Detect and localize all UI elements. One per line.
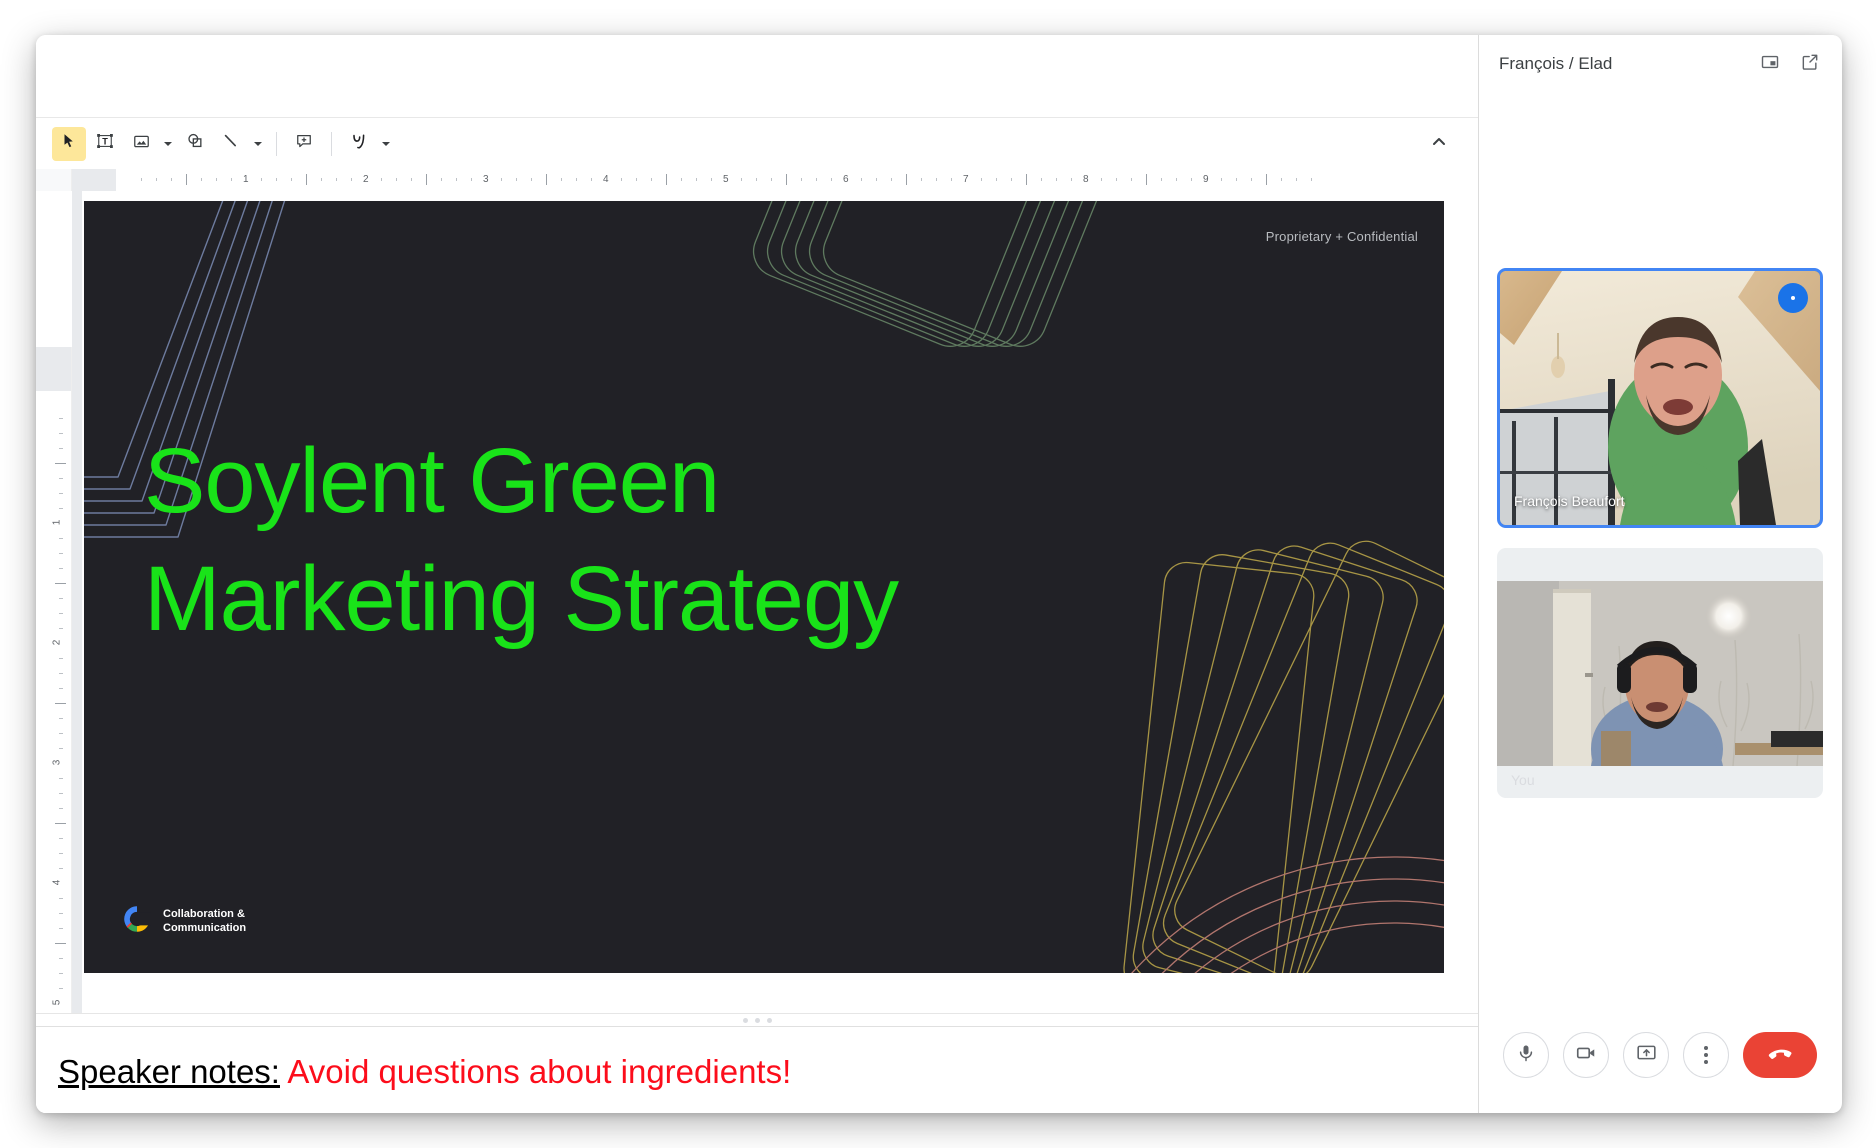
slide-canvas-area: 12345: [36, 191, 1478, 1013]
participant-tiles: François Beaufort: [1479, 93, 1841, 1005]
ruler-tick: [59, 688, 63, 689]
drag-handle-dots-icon: [743, 1018, 748, 1023]
ruler-tick: [1026, 174, 1027, 185]
ruler-tick: [1191, 178, 1192, 181]
phone-hangup-icon: [1766, 1039, 1794, 1072]
ruler-tick: [1101, 178, 1102, 181]
camera-button[interactable]: [1563, 1032, 1609, 1078]
ruler-tick: [59, 838, 63, 839]
ruler-tick: [696, 178, 697, 181]
notes-resize-handle[interactable]: [36, 1013, 1478, 1027]
slide-logo: Collaboration & Communication: [120, 902, 246, 941]
ruler-tick: [59, 658, 63, 659]
ruler-label: 5: [723, 174, 729, 185]
more-options-button[interactable]: [1683, 1032, 1729, 1078]
ruler-tick: [336, 178, 337, 181]
ruler-tick: [201, 178, 202, 181]
textbox-tool-button[interactable]: T: [88, 127, 122, 161]
ruler-tick: [1251, 178, 1252, 181]
ruler-tick: [351, 178, 352, 181]
speaker-notes-area[interactable]: Speaker notes: Avoid questions about ing…: [36, 1027, 1478, 1113]
comment-tool-button[interactable]: [287, 127, 321, 161]
confidential-label: Proprietary + Confidential: [1266, 229, 1418, 244]
ruler-label: 3: [51, 760, 62, 766]
ruler-label: 8: [1083, 174, 1089, 185]
ruler-tick: [681, 178, 682, 181]
picture-in-picture-button[interactable]: [1755, 49, 1785, 79]
ruler-tick: [741, 178, 742, 181]
ruler-tick: [411, 178, 412, 181]
ruler-tick: [441, 178, 442, 181]
participant-name: You: [1511, 772, 1535, 788]
ruler-v-inset: [36, 347, 72, 391]
ruler-tick: [55, 943, 66, 944]
ruler-tick: [1071, 178, 1072, 181]
chevron-down-icon: [163, 139, 173, 149]
slide-canvas[interactable]: Proprietary + Confidential Soylent Green…: [84, 201, 1444, 973]
picture-in-picture-icon: [1760, 52, 1780, 77]
ruler-tick: [426, 174, 427, 185]
ruler-tick: [59, 958, 63, 959]
text-box-icon: T: [95, 131, 115, 156]
line-tool-button[interactable]: [214, 127, 248, 161]
more-vert-icon: [1704, 1046, 1708, 1064]
ruler-tick: [1146, 174, 1147, 185]
ruler-tick: [59, 673, 63, 674]
ruler-tick: [59, 598, 63, 599]
ruler-label: 1: [243, 174, 249, 185]
ruler-tick: [1311, 178, 1312, 181]
participant-tile-active[interactable]: François Beaufort: [1497, 268, 1823, 528]
meet-header: François / Elad: [1479, 35, 1841, 93]
ruler-tick: [59, 553, 63, 554]
svg-text:T: T: [102, 136, 108, 146]
ruler-tick: [59, 748, 63, 749]
ruler-tick: [906, 174, 907, 185]
microphone-button[interactable]: [1503, 1032, 1549, 1078]
open-in-new-button[interactable]: [1795, 49, 1825, 79]
participant-video: [1497, 581, 1823, 766]
ruler-tick: [996, 178, 997, 181]
ruler-tick: [786, 174, 787, 185]
ruler-tick: [59, 418, 63, 419]
image-tool-button[interactable]: [124, 127, 158, 161]
ruler-tick: [59, 733, 63, 734]
ruler-tick: [471, 178, 472, 181]
ruler-tick: [59, 493, 63, 494]
meet-side-panel: François / Elad: [1479, 35, 1841, 1113]
ruler-tick: [59, 928, 63, 929]
ruler-tick: [621, 178, 622, 181]
ruler-tick: [561, 178, 562, 181]
ruler-tick: [141, 178, 142, 181]
ruler-tick: [801, 178, 802, 181]
curve-tool-button[interactable]: [342, 127, 376, 161]
microphone-icon: [1516, 1043, 1536, 1068]
video-camera-icon: [1575, 1042, 1597, 1069]
vertical-ruler[interactable]: 12345: [36, 347, 72, 1113]
speaker-notes-value[interactable]: Avoid questions about ingredients!: [287, 1053, 791, 1090]
ruler-tick: [816, 178, 817, 181]
ruler-tick: [59, 538, 63, 539]
ruler-tick: [1281, 178, 1282, 181]
ruler-tick: [59, 898, 63, 899]
ruler-tick: [1161, 178, 1162, 181]
ruler-tick: [231, 178, 232, 181]
toolbar-collapse-button[interactable]: [1422, 127, 1456, 161]
ruler-tick: [59, 628, 63, 629]
ruler-tick: [666, 174, 667, 185]
ruler-tick: [771, 178, 772, 181]
ruler-tick: [981, 178, 982, 181]
ruler-tick: [1131, 178, 1132, 181]
ruler-tick: [55, 823, 66, 824]
ruler-tick: [55, 463, 66, 464]
ruler-label: 7: [963, 174, 969, 185]
ruler-tick: [216, 178, 217, 181]
ruler-tick: [651, 178, 652, 181]
ruler-tick: [1176, 178, 1177, 181]
ruler-label: 5: [51, 1000, 62, 1006]
google-c-logo-icon: [120, 902, 154, 941]
ruler-tick: [59, 568, 63, 569]
ruler-tick: [276, 178, 277, 181]
ruler-tick: [171, 178, 172, 181]
ruler-tick: [531, 178, 532, 181]
toolbar-divider-2: [331, 132, 332, 156]
ruler-tick: [1056, 178, 1057, 181]
chevron-up-icon: [1431, 134, 1447, 155]
ruler-tick: [636, 178, 637, 181]
ruler-tick: [876, 178, 877, 181]
chevron-down-icon: [253, 139, 263, 149]
ruler-label: 4: [51, 880, 62, 886]
ruler-tick: [186, 174, 187, 185]
ruler-tick: [831, 178, 832, 181]
participant-video: [1500, 271, 1820, 525]
ruler-tick: [59, 913, 63, 914]
slide-title[interactable]: Soylent Green Marketing Strategy: [144, 423, 1144, 659]
slides-toolbar: T: [36, 117, 1478, 169]
ruler-tick: [1221, 178, 1222, 181]
ruler-label: 6: [843, 174, 849, 185]
ruler-tick: [321, 178, 322, 181]
line-tool-dropdown[interactable]: [250, 127, 266, 161]
ruler-label: 4: [603, 174, 609, 185]
toolbar-divider: [276, 132, 277, 156]
ruler-tick: [591, 178, 592, 181]
ruler-tick: [1296, 178, 1297, 181]
app-window: T: [36, 35, 1842, 1113]
ruler-tick: [55, 703, 66, 704]
ruler-h-track[interactable]: 123456789: [116, 169, 1478, 191]
drag-handle-dots-icon: [755, 1018, 760, 1023]
chevron-down-icon: [381, 139, 391, 149]
ruler-tick: [306, 174, 307, 185]
ruler-label: 2: [51, 640, 62, 646]
image-icon: [132, 132, 151, 156]
shape-icon: [185, 131, 205, 156]
ruler-tick: [59, 778, 63, 779]
present-button[interactable]: [1623, 1032, 1669, 1078]
horizontal-ruler[interactable]: 123456789: [36, 169, 1478, 191]
curve-pen-icon: [349, 131, 369, 156]
meet-call-title: François / Elad: [1499, 54, 1745, 74]
ruler-tick: [921, 178, 922, 181]
ruler-tick: [261, 178, 262, 181]
ruler-tick: [1011, 178, 1012, 181]
ruler-tick: [59, 988, 63, 989]
ruler-label: 3: [483, 174, 489, 185]
shape-tool-button[interactable]: [178, 127, 212, 161]
line-icon: [221, 131, 241, 156]
ruler-label: 9: [1203, 174, 1209, 185]
ruler-tick: [291, 178, 292, 181]
ruler-tick: [59, 433, 63, 434]
ruler-h-inset: [72, 169, 116, 191]
ruler-tick: [576, 178, 577, 181]
ruler-tick: [396, 178, 397, 181]
ruler-tick: [59, 718, 63, 719]
add-comment-icon: [294, 131, 314, 156]
slides-editor-pane: T: [36, 35, 1479, 1113]
open-in-new-icon: [1800, 52, 1820, 77]
ruler-tick: [861, 178, 862, 181]
tile-more-options-button[interactable]: [1778, 283, 1808, 313]
hangup-button[interactable]: [1743, 1032, 1817, 1078]
ruler-tick: [936, 178, 937, 181]
ruler-tick: [756, 178, 757, 181]
ruler-corner: [36, 169, 72, 191]
image-tool-dropdown[interactable]: [160, 127, 176, 161]
curve-tool-dropdown[interactable]: [378, 127, 394, 161]
ruler-tick: [59, 508, 63, 509]
ruler-tick: [1041, 178, 1042, 181]
ruler-tick: [1116, 178, 1117, 181]
ruler-tick: [951, 178, 952, 181]
participant-tile-self[interactable]: You: [1497, 548, 1823, 798]
ruler-tick: [59, 808, 63, 809]
ruler-tick: [891, 178, 892, 181]
select-tool-button[interactable]: [52, 127, 86, 161]
ruler-tick: [516, 178, 517, 181]
participant-name: François Beaufort: [1514, 493, 1625, 509]
speaker-notes-text[interactable]: Speaker notes: Avoid questions about ing…: [58, 1051, 1448, 1092]
ruler-tick: [711, 178, 712, 181]
ruler-tick: [59, 868, 63, 869]
ruler-tick: [59, 793, 63, 794]
ruler-tick: [501, 178, 502, 181]
ruler-tick: [59, 478, 63, 479]
ruler-label: 1: [51, 520, 62, 526]
ruler-tick: [1236, 178, 1237, 181]
slide-logo-text: Collaboration & Communication: [163, 908, 246, 935]
ruler-tick: [59, 973, 63, 974]
ruler-tick: [156, 178, 157, 181]
ruler-tick: [59, 448, 63, 449]
ruler-tick: [1266, 174, 1267, 185]
more-options-icon: [1791, 296, 1795, 300]
cursor-arrow-icon: [60, 132, 78, 155]
ruler-tick: [55, 583, 66, 584]
ruler-tick: [59, 613, 63, 614]
drag-handle-dots-icon: [767, 1018, 772, 1023]
canvas-left-strip: [72, 191, 82, 1013]
ruler-tick: [456, 178, 457, 181]
ruler-tick: [381, 178, 382, 181]
ruler-tick: [59, 853, 63, 854]
meet-controls-bar: [1479, 1005, 1841, 1113]
ruler-tick: [546, 174, 547, 185]
editor-top-spacer: [36, 35, 1478, 117]
present-screen-icon: [1636, 1042, 1657, 1068]
ruler-label: 2: [363, 174, 369, 185]
speaker-notes-label: Speaker notes:: [58, 1053, 280, 1090]
